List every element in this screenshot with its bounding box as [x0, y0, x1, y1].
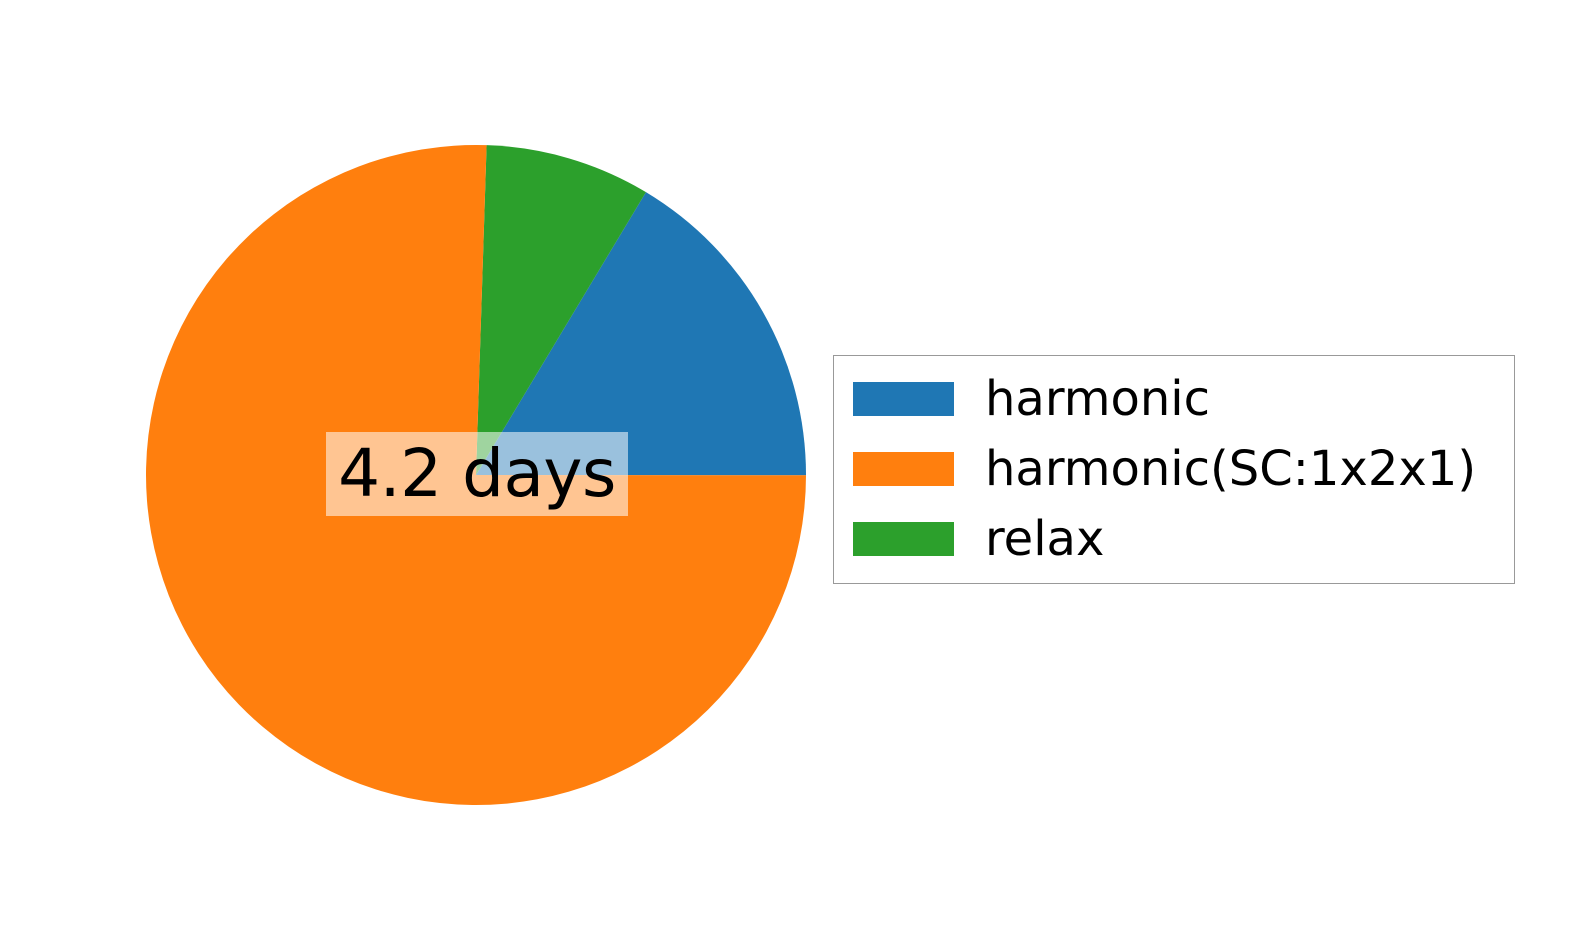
legend-item-harmonic-sc[interactable]: harmonic(SC:1x2x1)	[853, 441, 1476, 497]
legend-label-harmonic-sc: harmonic(SC:1x2x1)	[985, 445, 1476, 493]
legend-item-relax[interactable]: relax	[853, 511, 1104, 567]
legend-label-harmonic: harmonic	[985, 375, 1210, 423]
legend-label-relax: relax	[985, 515, 1104, 563]
pie-center-label: 4.2 days	[326, 432, 628, 516]
legend-swatch-harmonic	[853, 382, 954, 416]
pie-center-label-text: 4.2 days	[338, 441, 616, 507]
pie-chart-figure: 4.2 days harmonic harmonic(SC:1x2x1) rel…	[0, 0, 1585, 951]
legend-item-harmonic[interactable]: harmonic	[853, 371, 1210, 427]
legend-swatch-harmonic-sc	[853, 452, 954, 486]
legend-items: harmonic harmonic(SC:1x2x1) relax	[834, 356, 1514, 583]
legend-swatch-relax	[853, 522, 954, 556]
legend: harmonic harmonic(SC:1x2x1) relax	[833, 355, 1515, 584]
